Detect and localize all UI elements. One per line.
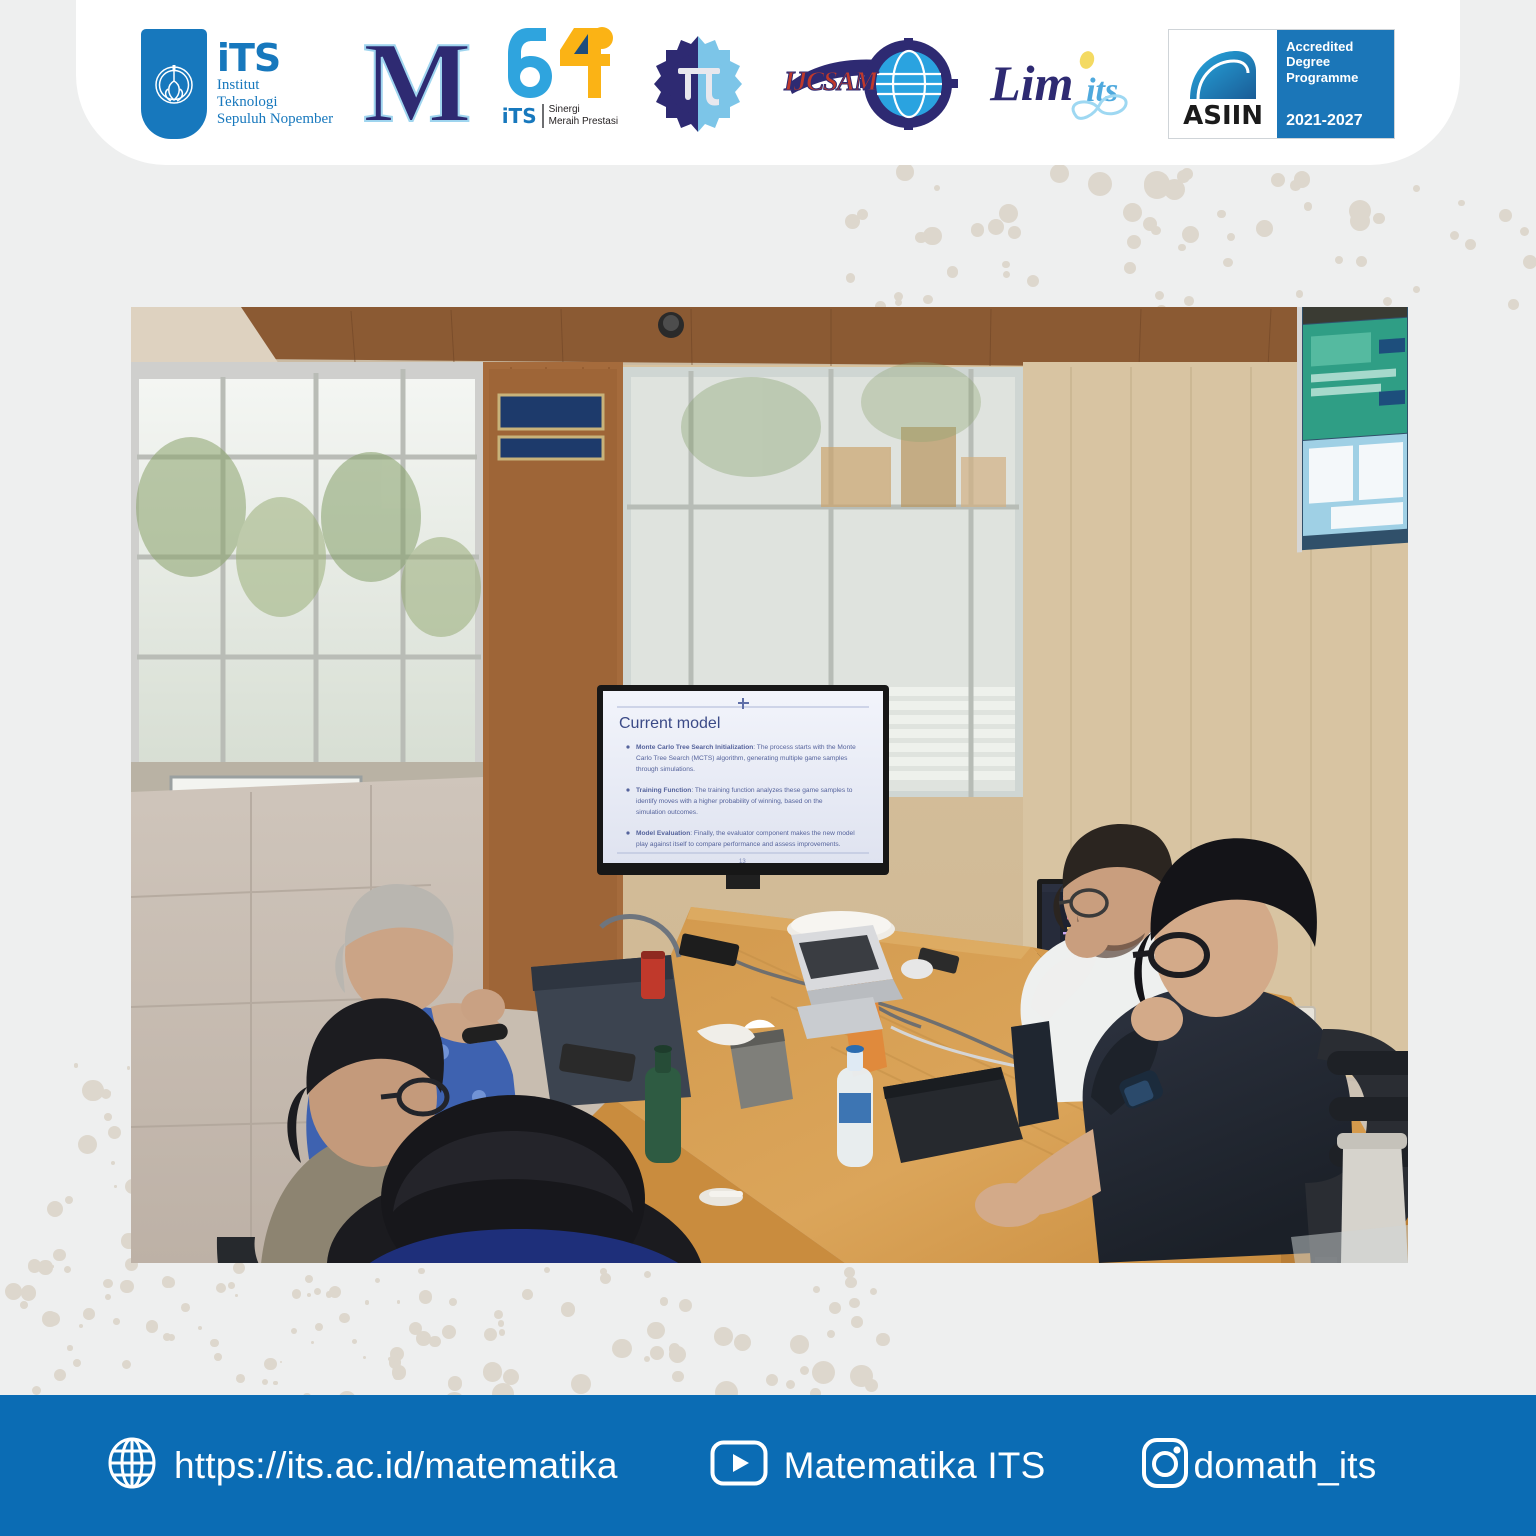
svg-text:13: 13 [739,859,746,865]
decorative-dot [73,1359,81,1367]
decorative-dot [498,1320,505,1327]
decorative-dot [181,1303,190,1312]
decorative-dot [660,1297,668,1305]
svg-text:Monte Carlo Tree Search Initia: Monte Carlo Tree Search Initialization: … [636,744,856,751]
footer-website-link[interactable]: https://its.ac.id/matematika [106,1437,618,1494]
decorative-dot [168,1334,175,1341]
decorative-dot [210,1339,218,1347]
decorative-dot [800,1366,809,1375]
decorative-dot [857,209,869,221]
decorative-dot [198,1326,202,1330]
decorative-dot [228,1282,234,1288]
decorative-dot [1181,168,1193,180]
asiin-left-panel: ASIIN [1169,30,1277,138]
decorative-dot [1008,226,1021,239]
decorative-dot [389,1356,401,1368]
asiin-right-panel: Accredited Degree Programme 2021-2027 [1277,30,1394,138]
youtube-icon [710,1440,768,1491]
decorative-dot [1050,164,1069,183]
decorative-dot [314,1288,321,1295]
decorative-dot [1182,226,1199,243]
decorative-dot [845,1277,857,1289]
its-64-tagline-2: Meraih Prestasi [549,116,618,127]
decorative-dot [734,1334,751,1351]
decorative-dot [1294,171,1310,187]
decorative-dot [108,1126,121,1139]
decorative-dot [127,1066,131,1070]
decorative-dot [409,1322,423,1336]
decorative-dot [1003,271,1010,278]
decorative-dot [1155,291,1164,300]
decorative-dot [1520,227,1529,236]
decorative-dot [305,1275,313,1283]
decorative-dot [947,266,959,278]
its-abbrev: iTS [217,39,333,77]
decorative-dot [1217,210,1225,218]
decorative-dot [503,1369,520,1386]
decorative-dot [449,1298,457,1306]
decorative-dot [108,1091,112,1095]
decorative-dot [363,1356,366,1359]
decorative-dot [1296,290,1303,297]
decorative-dot [397,1300,400,1303]
its-shield-icon [141,29,207,139]
decorative-dot [416,1331,431,1346]
decorative-dot [1184,296,1194,306]
decorative-dot [291,1328,297,1334]
logo-limits: Lim its [988,24,1138,144]
decorative-dot [1123,203,1142,222]
decorative-dot [315,1323,323,1331]
decorative-dot [236,1374,245,1383]
decorative-dot [494,1310,503,1319]
svg-text:simulation outcomes.: simulation outcomes. [636,809,698,816]
decorative-dot [829,1302,841,1314]
decorative-dot [1290,180,1300,190]
asiin-line-2: Degree [1286,54,1386,70]
decorative-dot [871,1382,877,1388]
its-line-2: Teknologi [217,94,333,111]
ijcsam-wordmark: IJCSAM [784,66,877,97]
decorative-dot [280,1361,282,1363]
decorative-dot [390,1347,404,1361]
decorative-dot [851,1316,863,1328]
decorative-dot [273,1381,278,1386]
decorative-dot [79,1324,83,1328]
decorative-dot [923,227,942,246]
youtube-channel: Matematika ITS [784,1445,1046,1487]
decorative-dot [600,1273,611,1284]
decorative-dot [894,292,903,301]
decorative-dot [165,1277,176,1288]
decorative-dot [1373,213,1384,224]
footer-youtube-link[interactable]: Matematika ITS [710,1440,1046,1491]
decorative-dot [669,1343,680,1354]
decorative-dot [214,1353,222,1361]
website-url: https://its.ac.id/matematika [174,1445,618,1487]
decorative-dot [923,295,933,305]
decorative-dot [388,1357,392,1361]
decorative-dot [1465,239,1476,250]
limits-icon: Lim its [988,38,1138,130]
decorative-dot [845,214,860,229]
logo-matematika-m: M [363,24,472,144]
decorative-dot [1350,211,1370,231]
decorative-dot [375,1278,380,1283]
decorative-dot [307,1293,311,1297]
decorative-dot [1413,286,1420,293]
decorative-dot [1143,217,1157,231]
decorative-dot [600,1268,607,1275]
decorative-dot [83,1308,95,1320]
decorative-dot [163,1333,171,1341]
decorative-dot [101,1089,111,1099]
decorative-dot [1124,262,1136,274]
logo-its-64: iTS Sinergi Meraih Prestasi [502,24,618,144]
decorative-dot [38,1260,52,1274]
decorative-dot [876,1333,889,1346]
decorative-dot [45,1312,60,1327]
decorative-dot [1523,255,1536,269]
svg-text:Model Evaluation: Finally, the: Model Evaluation: Finally, the evaluator… [636,830,855,837]
decorative-dot [326,1291,333,1298]
decorative-dot [47,1201,64,1218]
header-logo-card: iTS Institut Teknologi Sepuluh Nopember … [76,0,1460,165]
decorative-dot [1227,233,1235,241]
decorative-dot [21,1285,37,1301]
ijcsam-icon: IJCSAM [778,38,958,130]
asiin-line-1: Accredited [1286,39,1386,55]
logo-gear-pi [648,24,748,144]
decorative-dot [647,1322,665,1340]
decorative-dot [264,1358,277,1371]
decorative-dot [122,1360,131,1369]
decorative-dot [292,1289,301,1298]
logo-row: iTS Institut Teknologi Sepuluh Nopember … [141,16,1395,165]
decorative-dot [988,219,1004,235]
decorative-dot [216,1283,226,1293]
decorative-dot [827,1330,835,1338]
decorative-dot [1027,275,1039,287]
decorative-dot [971,223,985,237]
its-wordmark: iTS Institut Teknologi Sepuluh Nopember [217,39,333,129]
decorative-dot [442,1325,456,1339]
decorative-dot [32,1386,41,1395]
decorative-dot [850,1365,873,1388]
decorative-dot [114,1185,116,1187]
decorative-dot [103,1279,112,1288]
decorative-dot [483,1362,502,1381]
decorative-dot [896,163,914,181]
svg-text:Current model: Current model [619,715,720,732]
m-monogram: M [363,36,472,130]
svg-text:Training Function: The trainin: Training Function: The training function… [636,787,853,794]
decorative-dot [897,170,907,180]
decorative-dot [1383,297,1392,306]
decorative-dot [448,1376,463,1391]
decorative-dot [895,299,902,306]
decorative-dot [849,1298,860,1309]
decorative-dot [105,1294,111,1300]
decorative-dot [53,1249,65,1261]
decorative-dot [393,1372,401,1380]
decorative-dot [65,1196,73,1204]
logo-asiin: ASIIN Accredited Degree Programme 2021-2… [1168,24,1395,144]
decorative-dot [1144,171,1170,197]
decorative-dot [999,204,1018,223]
decorative-dot [1223,258,1233,268]
decorative-dot [612,1339,632,1359]
svg-text:play against itself to compare: play against itself to compare performan… [636,841,841,848]
decorative-dot [644,1356,650,1362]
meeting-room-photo: Current model Monte Carlo Tree Search In… [131,307,1408,1263]
decorative-dot [1499,209,1512,222]
decorative-dot [766,1374,778,1386]
divider [542,104,544,128]
decorative-dot [561,1302,575,1316]
decorative-dot [1151,226,1161,236]
decorative-dot [235,1294,238,1297]
decorative-dot [54,1369,66,1381]
gear-pi-icon [648,34,748,134]
logo-ijcsam: IJCSAM [778,24,958,144]
its-64-footer: iTS Sinergi Meraih Prestasi [502,104,618,128]
decorative-dot [484,1328,497,1341]
asiin-line-3: Programme [1286,70,1386,86]
logo-its: iTS Institut Teknologi Sepuluh Nopember [141,24,333,144]
decorative-dot [1349,200,1371,222]
decorative-dot [870,1288,878,1296]
decorative-dot [233,1262,245,1274]
asiin-badge: ASIIN Accredited Degree Programme 2021-2… [1168,29,1395,139]
asiin-years: 2021-2027 [1286,112,1386,130]
decorative-dot [429,1336,440,1347]
decorative-dot [418,1268,425,1275]
instagram-handle: domath_its [1193,1445,1376,1487]
decorative-dot [846,273,855,282]
globe-icon [106,1437,158,1494]
decorative-dot [522,1289,533,1300]
decorative-dot [1335,256,1344,265]
decorative-dot [85,1316,89,1320]
footer-instagram-link[interactable]: domath_its [1141,1437,1376,1494]
decorative-dot [352,1339,357,1344]
its-line-3: Sepuluh Nopember [217,111,333,128]
decorative-dot [915,232,926,243]
asiin-wordmark: ASIIN [1183,101,1263,131]
instagram-icon [1141,1437,1189,1494]
decorative-dot [365,1300,369,1304]
decorative-dot [813,1286,820,1293]
decorative-dot [786,1380,795,1389]
decorative-dot [1450,231,1459,240]
decorative-dot [644,1271,651,1278]
footer-bar: https://its.ac.id/matematika Matematika … [0,1395,1536,1536]
decorative-dot [1256,220,1273,237]
decorative-dot [934,185,940,191]
decorative-dot [790,1335,809,1354]
decorative-dot [392,1365,406,1379]
decorative-dot [544,1267,550,1273]
decorative-dot [52,1265,54,1267]
decorative-dot [812,1361,835,1384]
decorative-dot [28,1259,42,1273]
decorative-dot [146,1320,159,1333]
decorative-dots-bottom-middle [200,1265,900,1400]
its-64-brand: iTS [502,104,537,128]
svg-text:through simulations.: through simulations. [636,766,695,773]
decorative-dot [672,1371,683,1382]
decorative-dot [311,1341,314,1344]
decorative-dot [120,1280,134,1294]
its-64-numerals [502,24,614,100]
decorative-dot [42,1311,58,1327]
svg-text:Carlo Tree Search (MCTS) algor: Carlo Tree Search (MCTS) algorithm, gene… [636,755,848,762]
decorative-dot [5,1283,22,1300]
decorative-dot [1271,173,1285,187]
decorative-dot [679,1299,692,1312]
decorative-dot [1164,179,1186,201]
decorative-dot [111,1161,115,1165]
decorative-dot [329,1286,341,1298]
decorative-dot [1088,172,1112,196]
decorative-dot [1151,174,1158,181]
decorative-dot [339,1313,350,1324]
decorative-dot [419,1290,433,1304]
decorative-dot [669,1346,686,1363]
decorative-dot [1127,235,1142,250]
decorative-dot [1002,261,1009,268]
decorative-dot [390,1353,399,1362]
decorative-dot [1144,173,1170,199]
decorative-dot [1304,202,1313,211]
decorative-dots-top-right [840,160,1536,320]
decorative-dot [78,1135,98,1155]
decorative-dot [499,1329,505,1335]
decorative-dot [74,1063,78,1067]
decorative-dot [1177,170,1190,183]
decorative-dot [67,1345,72,1350]
decorative-dot [162,1276,173,1287]
decorative-dot [1458,200,1464,206]
decorative-dot [844,1267,855,1278]
decorative-dot [650,1346,664,1360]
decorative-dot [714,1327,733,1346]
decorative-dot [1413,185,1420,192]
decorative-dot [1356,256,1367,267]
decorative-dot [1508,299,1519,310]
svg-text:identify moves with a higher p: identify moves with a higher probability… [636,798,823,805]
decorative-dot [104,1113,112,1121]
decorative-dot [262,1379,268,1385]
asiin-arch-icon [1186,49,1260,101]
decorative-dot [1178,244,1185,251]
decorative-dot [113,1318,120,1325]
decorative-dot [571,1374,591,1394]
decorative-dot [865,1379,878,1392]
decorative-dot [64,1266,71,1273]
decorative-dot [82,1080,104,1102]
decorative-dot [20,1301,28,1309]
its-64-tagline-1: Sinergi [549,104,580,115]
